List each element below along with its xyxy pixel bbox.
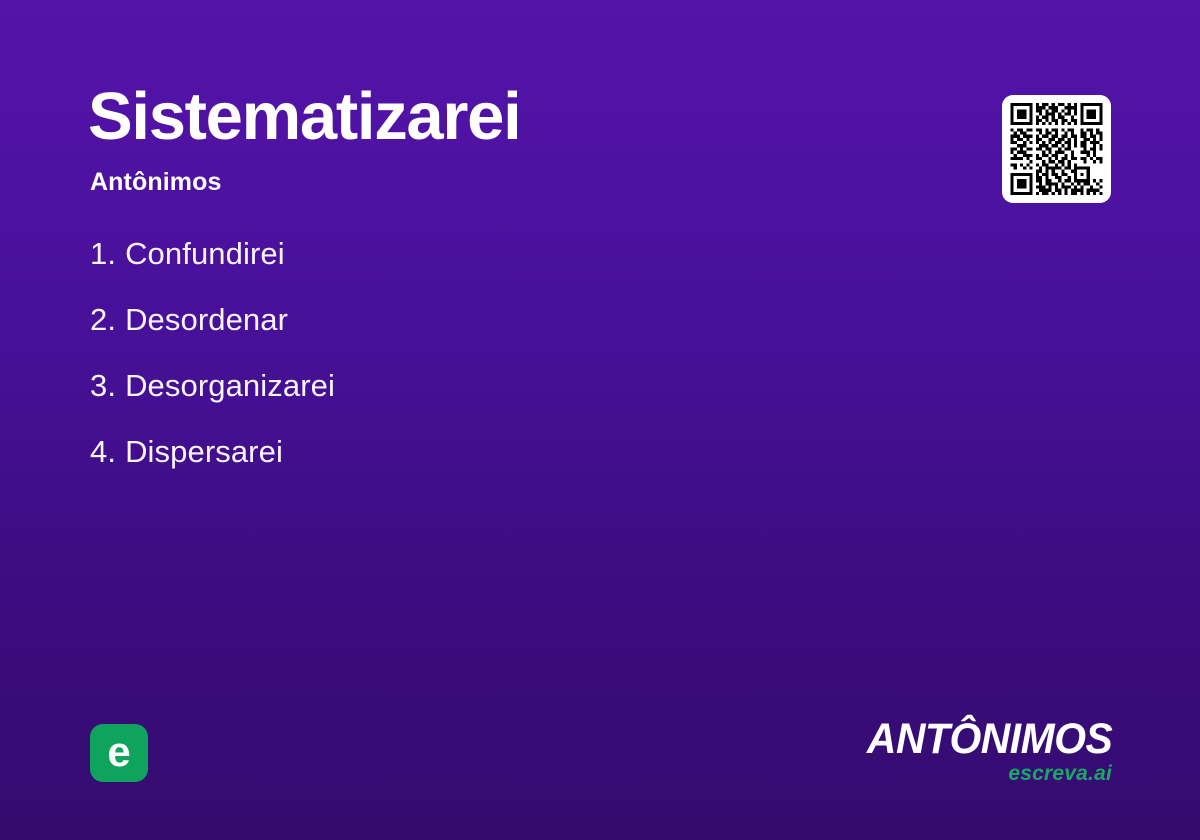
list-item-word: Confundirei [125, 236, 285, 272]
escreva-logo-icon[interactable]: e [90, 724, 148, 782]
wordmark-domain: escreva.ai [854, 763, 1112, 784]
list-item-word: Dispersarei [125, 434, 283, 470]
list-item: 2. Desordenar [90, 302, 910, 368]
list-item-index: 3. [90, 368, 116, 404]
page-title: Sistematizarei [88, 82, 520, 152]
list-item-index: 4. [90, 434, 116, 470]
list-item: 4. Dispersarei [90, 434, 910, 500]
wordmark-title: ANTÔNIMOS [867, 718, 1112, 761]
list-item-index: 2. [90, 302, 116, 338]
list-item: 3. Desorganizarei [90, 368, 910, 434]
qr-code-icon[interactable] [1002, 95, 1111, 203]
brand-wordmark: ANTÔNIMOS escreva.ai [854, 718, 1112, 784]
list-item-index: 1. [90, 236, 116, 272]
brand-badge-letter: e [107, 731, 130, 773]
list-item-word: Desorganizarei [125, 368, 335, 404]
antonyms-card: Sistematizarei Antônimos 1. Confundirei … [0, 0, 1200, 840]
list-item: 1. Confundirei [90, 236, 910, 302]
list-item-word: Desordenar [125, 302, 288, 338]
antonyms-list: 1. Confundirei 2. Desordenar 3. Desorgan… [90, 236, 910, 500]
page-subtitle: Antônimos [90, 168, 221, 197]
